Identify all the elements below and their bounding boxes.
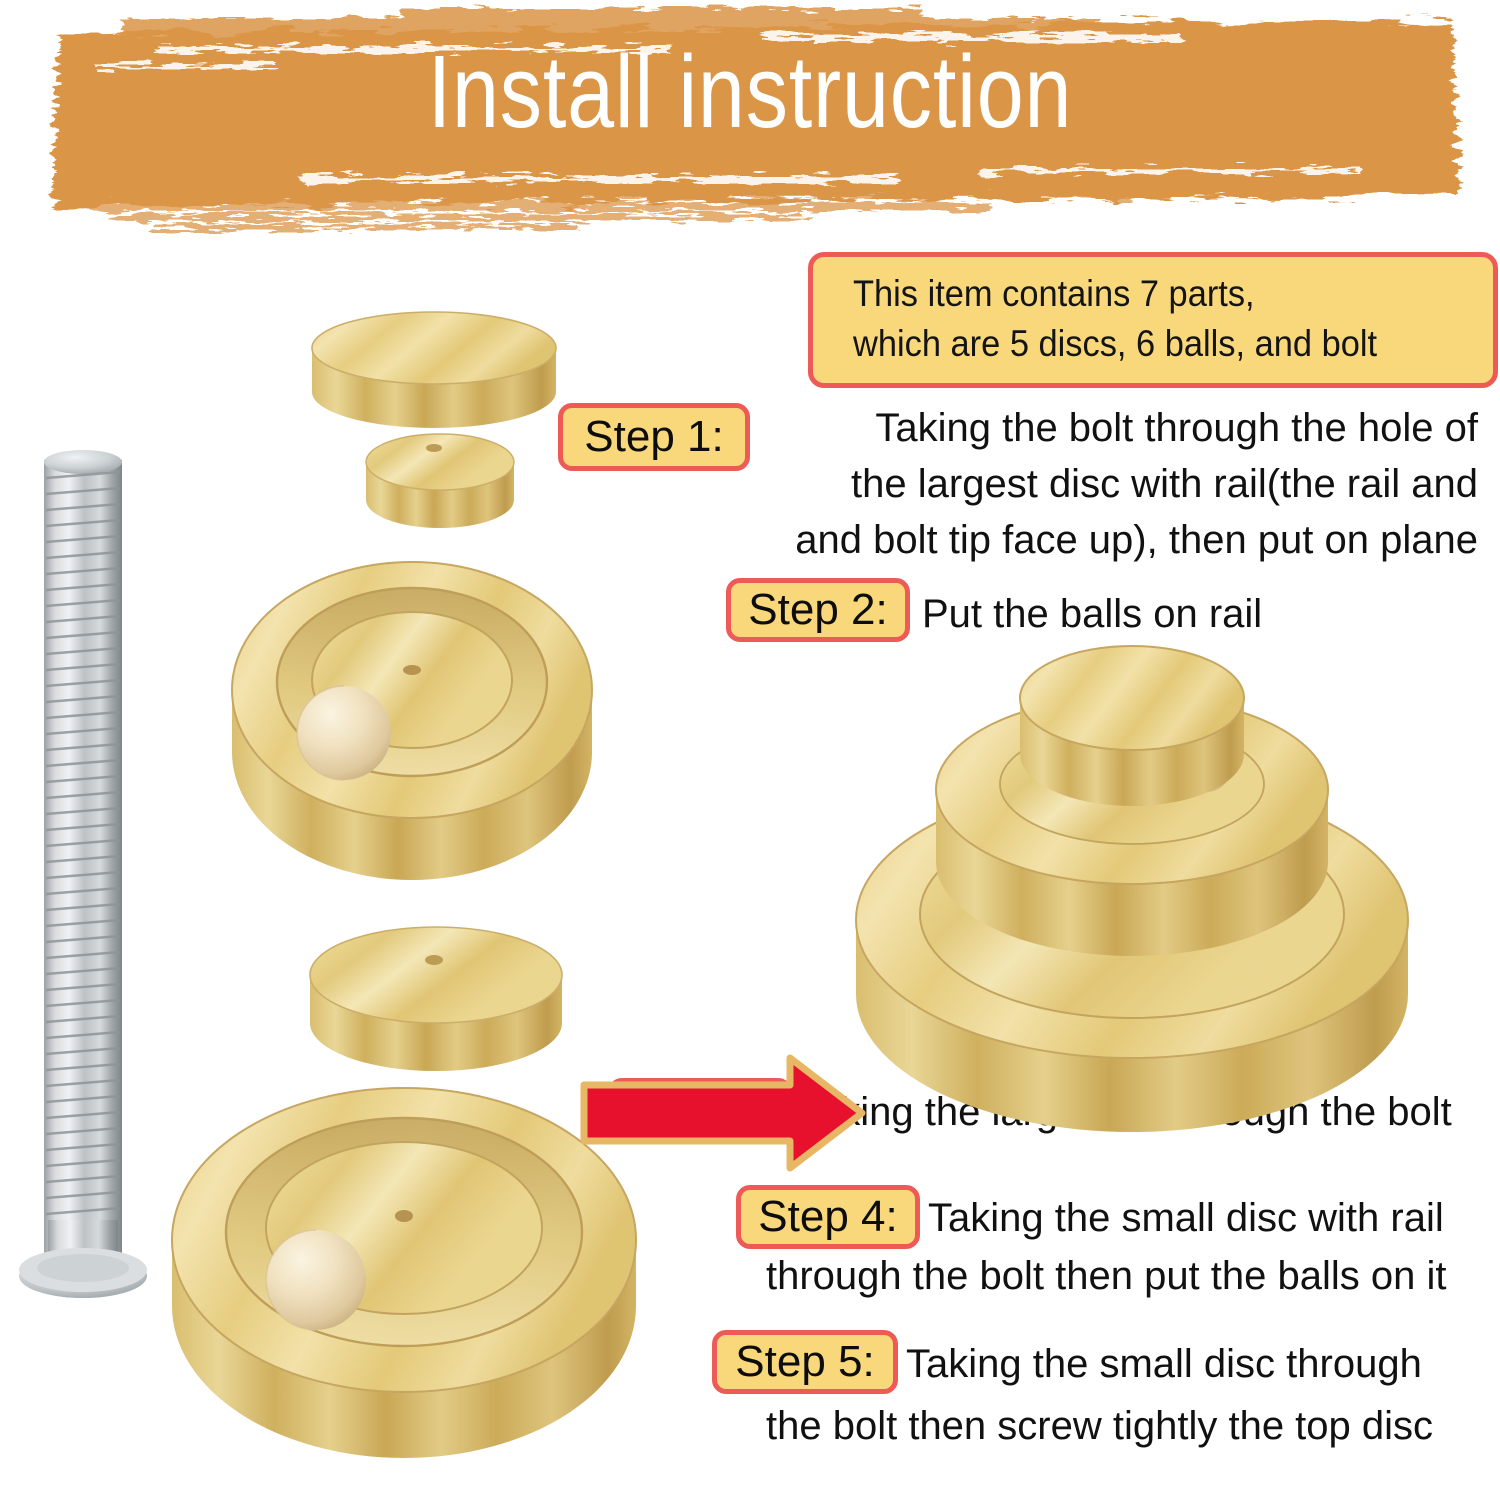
assembled-turntable	[856, 646, 1408, 1132]
small-disc-upper-part	[366, 434, 514, 528]
center-hole	[425, 955, 443, 965]
center-hole	[426, 444, 442, 452]
medium-disc-part	[310, 927, 562, 1071]
bolt-part	[19, 450, 147, 1298]
assembly-arrow-icon	[584, 1058, 862, 1168]
bottom-disc-with-rail-part	[172, 1088, 636, 1458]
large-disc-with-rail-part	[232, 562, 592, 880]
title-banner: Install instruction	[0, 0, 1500, 240]
page-title: Install instruction	[135, 40, 1365, 143]
center-hole	[403, 665, 421, 675]
product-parts-illustration	[0, 230, 1500, 1500]
center-hole	[395, 1210, 413, 1222]
top-disc-part	[312, 312, 556, 428]
